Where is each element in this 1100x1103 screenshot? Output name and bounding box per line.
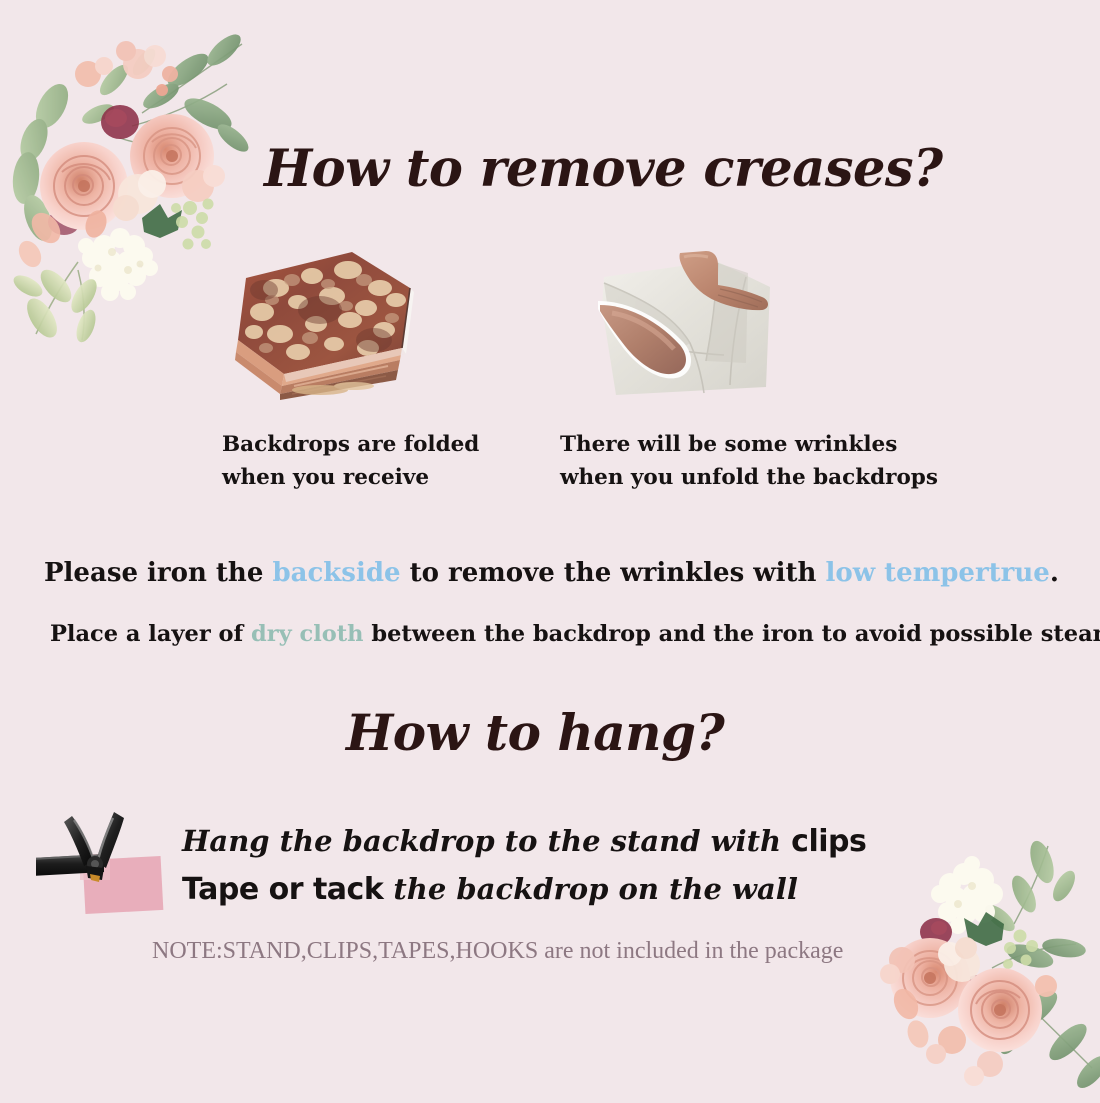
clamp-clip-graphic-icon: [36, 806, 196, 914]
package-contents-note: NOTE:STAND,CLIPS,TAPES,HOOKS are not inc…: [152, 938, 843, 965]
floral-corner-bottom-right-icon: [845, 828, 1100, 1103]
iron-instruction-line-1: Please iron the backside to remove the w…: [44, 558, 1059, 588]
floral-corner-top-left-icon: [0, 18, 262, 348]
iron-instruction-1-part-2: to remove the wrinkles with: [401, 558, 826, 588]
caption-folded: Backdrops are folded when you receive: [222, 428, 479, 494]
hang-line-2-text: the backdrop on the wall: [383, 872, 798, 906]
highlight-dry-cloth: dry cloth: [251, 621, 364, 647]
hang-instruction-line-1: Hang the backdrop to the stand with clip…: [182, 824, 866, 859]
hang-emphasis-clips: clips: [791, 824, 866, 859]
caption-wrinkles: There will be some wrinkles when you unf…: [560, 428, 938, 494]
iron-instruction-1-part-1: Please iron the: [44, 558, 272, 588]
iron-instruction-line-2: Place a layer of dry cloth between the b…: [50, 621, 1100, 647]
hand-smoothing-wrinkles-photo: [598, 243, 776, 399]
iron-instruction-2-part-1: Place a layer of: [50, 621, 251, 647]
instruction-card: How to remove creases?: [0, 0, 1100, 1100]
iron-instruction-1-part-3: .: [1050, 558, 1059, 588]
highlight-backside: backside: [272, 558, 400, 588]
page-title-creases: How to remove creases?: [264, 139, 943, 199]
folded-backdrop-photo: [224, 240, 416, 400]
hang-instruction-line-2: Tape or tack the backdrop on the wall: [182, 872, 798, 907]
iron-instruction-2-part-2: between the backdrop and the iron to avo…: [364, 621, 1100, 647]
hang-emphasis-tape-or-tack: Tape or tack: [182, 872, 383, 907]
highlight-low-temperature: low tempertrue: [826, 558, 1050, 588]
hang-line-1-text: Hang the backdrop to the stand with: [182, 824, 791, 858]
page-title-hang: How to hang?: [346, 703, 724, 762]
